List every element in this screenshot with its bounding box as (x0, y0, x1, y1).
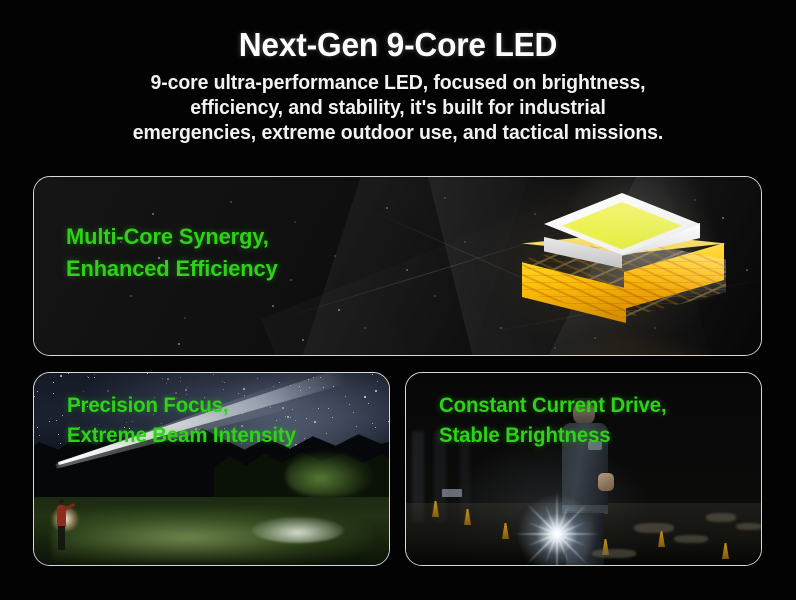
star (187, 387, 188, 388)
star (304, 438, 305, 439)
star (162, 378, 163, 379)
star (180, 377, 181, 378)
star (94, 374, 95, 375)
illuminated-rock-pile (252, 517, 344, 543)
star (326, 433, 327, 434)
star (34, 396, 35, 397)
star (62, 415, 63, 416)
dust-speck (406, 269, 408, 271)
star (180, 381, 181, 382)
subtitle-line-3: emergencies, extreme outdoor use, and ta… (20, 120, 776, 145)
star (37, 391, 38, 392)
star (353, 412, 354, 413)
dust-speck (184, 317, 186, 319)
star (53, 382, 54, 383)
dust-speck (272, 305, 274, 307)
star (375, 390, 377, 392)
star (368, 403, 369, 404)
star (349, 404, 350, 405)
dust-speck (464, 241, 466, 243)
card-title-line-1: Multi-Core Synergy, (66, 221, 278, 253)
dust-speck (386, 207, 388, 209)
star (60, 375, 62, 377)
illuminated-foliage (286, 451, 372, 497)
star (58, 434, 59, 435)
card-title-constant-current-drive: Constant Current Drive, Stable Brightnes… (439, 391, 667, 451)
star (56, 420, 57, 421)
star (39, 435, 40, 436)
dust-speck (294, 221, 296, 223)
star (372, 374, 373, 375)
dust-speck (290, 279, 292, 281)
ground-debris (634, 523, 674, 533)
star (68, 373, 69, 374)
card-title-line-1: Constant Current Drive, (439, 391, 667, 421)
dust-speck (334, 255, 336, 257)
person-legs (58, 526, 65, 550)
dust-speck (434, 295, 436, 297)
star (224, 382, 225, 383)
ground-debris (592, 549, 636, 558)
page-subtitle: 9-core ultra-performance LED, focused on… (20, 70, 776, 145)
star (388, 421, 389, 422)
card-title-precision-focus: Precision Focus, Extreme Beam Intensity (67, 391, 296, 451)
operator-legs (566, 513, 604, 566)
star (49, 421, 50, 422)
star (364, 396, 366, 398)
person-with-flashlight (56, 499, 67, 551)
led-emitter-package (544, 193, 700, 293)
dust-speck (746, 269, 748, 271)
feature-card-constant-current-drive[interactable]: Constant Current Drive, Stable Brightnes… (405, 372, 762, 566)
star (372, 423, 373, 424)
dust-speck (364, 327, 366, 329)
star (222, 381, 223, 382)
card-title-line-2: Extreme Beam Intensity (67, 421, 296, 451)
star (314, 421, 316, 423)
star (213, 374, 214, 375)
star (377, 381, 378, 382)
subtitle-line-2: efficiency, and stability, it's built fo… (20, 95, 776, 120)
star (37, 427, 38, 428)
star (375, 427, 376, 428)
feature-card-precision-focus[interactable]: Precision Focus, Extreme Beam Intensity (33, 372, 390, 566)
dust-speck (130, 295, 132, 297)
led-chip-illustration (496, 191, 746, 346)
person-head (59, 499, 64, 504)
star (243, 388, 245, 390)
star (147, 373, 148, 374)
roadside-sign (442, 489, 462, 497)
star (257, 378, 258, 379)
promo-graphic: Next-Gen 9-Core LED 9-core ultra-perform… (0, 0, 796, 600)
dust-speck (302, 339, 304, 341)
ground-debris (706, 513, 736, 522)
star (279, 382, 280, 383)
star (223, 389, 224, 390)
dust-speck (554, 347, 556, 349)
page-title: Next-Gen 9-Core LED (16, 26, 780, 64)
card-title-multi-core-synergy: Multi-Core Synergy, Enhanced Efficiency (66, 221, 278, 285)
star (53, 393, 54, 394)
card-title-line-2: Enhanced Efficiency (66, 253, 278, 285)
header: Next-Gen 9-Core LED 9-core ultra-perform… (0, 26, 796, 145)
dust-speck (338, 309, 340, 311)
ground-debris (674, 535, 708, 543)
star (34, 373, 36, 375)
ground-debris (736, 523, 762, 530)
star (356, 426, 357, 427)
star (345, 396, 346, 397)
card-title-line-1: Precision Focus, (67, 391, 296, 421)
star (328, 408, 329, 409)
star (306, 418, 307, 419)
star (332, 417, 333, 418)
subtitle-line-1: 9-core ultra-performance LED, focused on… (20, 70, 776, 95)
star (34, 384, 35, 385)
dust-speck (230, 201, 232, 203)
dust-speck (178, 343, 180, 345)
dust-speck (444, 197, 446, 199)
star (60, 443, 61, 444)
star (167, 378, 169, 380)
feature-card-multi-core-synergy[interactable]: Multi-Core Synergy, Enhanced Efficiency (33, 176, 762, 356)
star (318, 408, 319, 409)
card-title-line-2: Stable Brightness (439, 421, 667, 451)
star (88, 377, 89, 378)
dust-speck (152, 213, 154, 215)
operator-hand (598, 473, 614, 491)
star (94, 377, 95, 378)
star (166, 383, 167, 384)
